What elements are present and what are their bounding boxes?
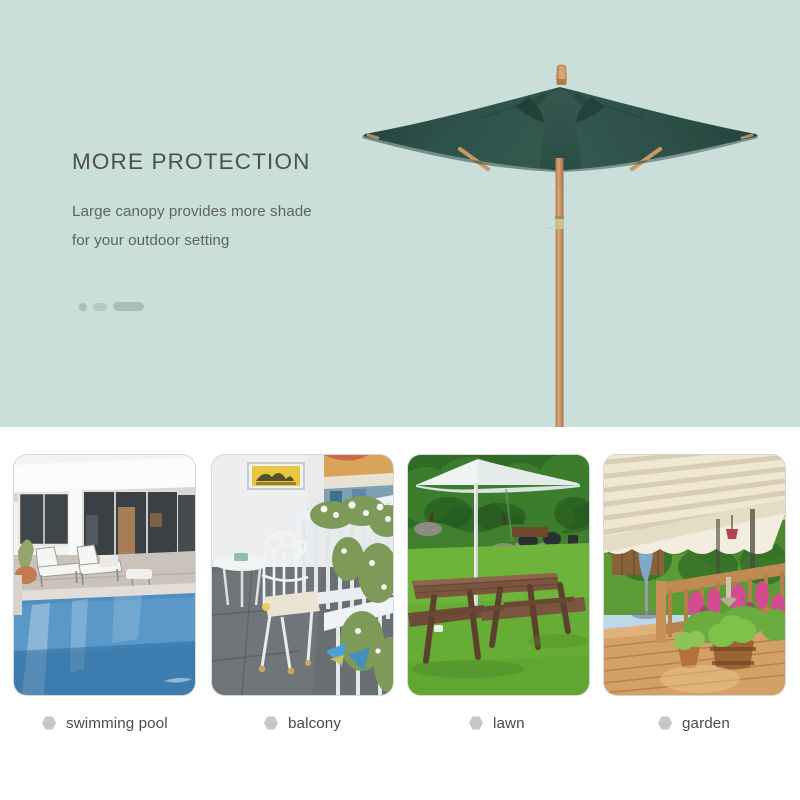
hero-subtitle: Large canopy provides more shade for you… — [72, 175, 392, 256]
hero-subtitle-line-2: for your outdoor setting — [72, 232, 229, 249]
hero-subtitle-line-1: Large canopy provides more shade — [72, 203, 312, 220]
carousel-pager[interactable] — [79, 302, 144, 311]
caption-balcony: balcony — [264, 712, 341, 734]
thumbnail-swimming-pool[interactable] — [14, 455, 195, 695]
caption-label: garden — [682, 715, 730, 732]
page-title: MORE PROTECTION — [72, 150, 392, 175]
pager-dot-2[interactable] — [93, 303, 107, 311]
scene-thumbnail-strip — [0, 455, 800, 700]
caption-label: lawn — [493, 715, 525, 732]
pager-dot-1[interactable] — [79, 303, 87, 311]
hero-panel: MORE PROTECTION Large canopy provides mo… — [0, 0, 800, 427]
hero-copy-block: MORE PROTECTION Large canopy provides mo… — [72, 150, 392, 256]
hexagon-bullet-icon — [42, 716, 56, 730]
product-feature-page: MORE PROTECTION Large canopy provides mo… — [0, 0, 800, 800]
caption-label: swimming pool — [66, 715, 168, 732]
hexagon-bullet-icon — [264, 716, 278, 730]
caption-garden: garden — [658, 712, 730, 734]
patio-umbrella-image — [360, 50, 760, 427]
thumbnail-balcony[interactable] — [212, 455, 393, 695]
caption-swimming-pool: swimming pool — [42, 712, 168, 734]
hexagon-bullet-icon — [469, 716, 483, 730]
hexagon-bullet-icon — [658, 716, 672, 730]
caption-lawn: lawn — [469, 712, 525, 734]
pager-active-indicator[interactable] — [113, 302, 144, 311]
thumbnail-garden[interactable] — [604, 455, 785, 695]
caption-label: balcony — [288, 715, 341, 732]
thumbnail-lawn[interactable] — [408, 455, 589, 695]
thumbnail-captions: swimming pool balcony lawn garden — [0, 712, 800, 742]
